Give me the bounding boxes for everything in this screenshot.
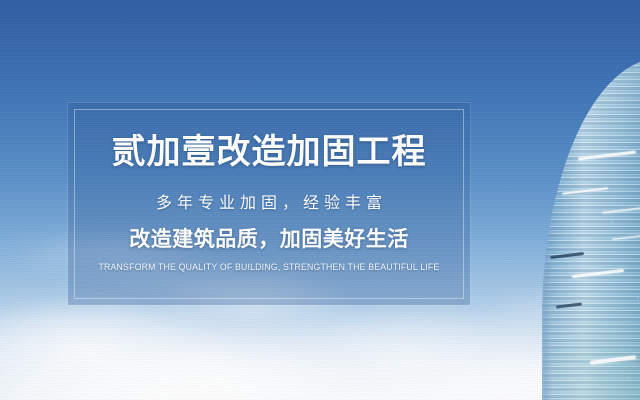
banner-subtitle: 多年专业加固，经验丰富 — [68, 196, 470, 212]
skyscraper-image — [520, 0, 640, 400]
building-soft-edge — [542, 58, 552, 400]
banner-english-caption: TRANSFORM THE QUALITY OF BUILDING, STREN… — [74, 263, 464, 272]
banner-tagline: 改造建筑品质，加固美好生活 — [68, 229, 470, 250]
hero-banner: 贰加壹改造加固工程 多年专业加固，经验丰富 改造建筑品质，加固美好生活 TRAN… — [0, 0, 640, 400]
page-title: 贰加壹改造加固工程 — [68, 135, 470, 169]
building-body — [542, 58, 640, 400]
banner-text-panel: 贰加壹改造加固工程 多年专业加固，经验丰富 改造建筑品质，加固美好生活 TRAN… — [68, 103, 470, 305]
